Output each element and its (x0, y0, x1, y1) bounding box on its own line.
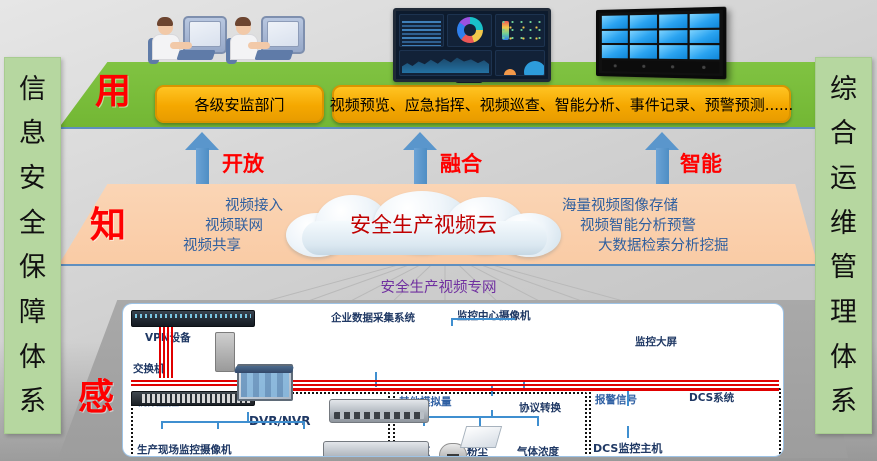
link-sensor-2 (479, 416, 481, 426)
cloud-capabilities-left: 视频接入 视频联网 视频共享 (138, 196, 283, 256)
keyboard-icon (254, 50, 293, 60)
donut-chart-icon (457, 17, 483, 43)
analytics-dashboard-screen (393, 8, 551, 82)
operator-2 (226, 8, 304, 70)
cloud-label-video-cloud: 安全生产视频云 (286, 209, 561, 239)
monitor-screen (267, 21, 299, 47)
left-banner-information-security: 信 息 安 全 保 障 体 系 (4, 57, 61, 434)
dashboard-trend-card (399, 50, 492, 76)
right-banner-char-2: 运 (830, 165, 857, 192)
network-label-private-network: 安全生产视频专网 (0, 276, 877, 297)
person-arm (170, 42, 192, 49)
cloud-left-item-0: 视频接入 (138, 196, 283, 216)
pill-application-functions[interactable]: 视频预览、应急指挥、视频巡查、智能分析、事件记录、预警预测...... (332, 85, 791, 123)
vpn-device-icon (131, 310, 255, 327)
left-banner-char-5: 障 (19, 299, 46, 326)
bubble-chart-icon (500, 55, 540, 71)
person-arm (248, 42, 270, 49)
dashboard-table-rows (402, 21, 441, 47)
video-wall-base (602, 60, 720, 73)
person-hair (235, 17, 251, 26)
arrow-label-fuse: 融合 (440, 148, 482, 178)
left-banner-char-3: 全 (19, 210, 46, 237)
operators-clipart (148, 8, 308, 70)
diagram-canvas: 用 知 感 信 息 安 全 保 障 体 系 综 合 运 维 管 理 体 系 (0, 0, 877, 461)
video-wall-display (596, 7, 726, 80)
layer-label-application: 用 (95, 62, 131, 114)
link-dcs-to-bus (627, 390, 629, 406)
right-banner-operations-management: 综 合 运 维 管 理 体 系 (815, 57, 872, 434)
area-chart-icon (402, 51, 489, 73)
link-sensor-bus (423, 416, 539, 418)
label-center-camera: 监控中心摄像机 (457, 308, 531, 323)
pc-keyboard-icon (234, 366, 294, 373)
link-converter-branch (491, 410, 493, 418)
label-data-collection: 企业数据采集系统 (331, 310, 415, 325)
link-cam3 (303, 421, 305, 429)
arrow-shaft (196, 148, 209, 184)
right-banner-char-7: 系 (830, 388, 857, 415)
arrow-shaft (414, 148, 427, 184)
cloud-left-item-2: 视频共享 (138, 236, 241, 256)
arrow-shaft (656, 148, 669, 184)
pill-supervision-departments[interactable]: 各级安监部门 (155, 85, 324, 123)
pc-tower-icon (215, 332, 235, 372)
cloud-left-item-1: 视频联网 (138, 216, 263, 236)
dashboard-grid (399, 14, 545, 76)
link-cam2 (217, 421, 219, 429)
dashboard-table-card (399, 14, 444, 47)
left-banner-char-2: 安 (19, 165, 46, 192)
layer-label-sense: 感 (78, 368, 114, 420)
dashboard-donut-card (447, 14, 492, 47)
link-sensor-3 (537, 416, 539, 426)
link-cam1 (161, 421, 163, 429)
video-wall-grid (602, 13, 720, 59)
right-banner-char-4: 管 (830, 254, 857, 281)
right-banner-char-5: 理 (830, 299, 857, 326)
scatter-plot-icon (499, 18, 541, 43)
link-camera-run (451, 318, 515, 320)
dashboard-scatter-card (495, 14, 545, 47)
arrow-up-smart (645, 132, 679, 184)
cloud-right-item-2: 大数据检索分析挖掘 (598, 236, 792, 256)
right-banner-char-0: 综 (830, 76, 857, 103)
arrow-label-smart: 智能 (680, 148, 722, 178)
group-dcs (589, 388, 781, 457)
operator-1 (148, 8, 226, 70)
link-camera-bus (161, 421, 305, 423)
right-banner-char-6: 体 (830, 344, 857, 371)
left-banner-char-4: 保 (19, 254, 46, 281)
dust-sensor-icon (460, 426, 502, 448)
layer-label-knowledge: 知 (90, 196, 126, 248)
right-banner-char-1: 合 (830, 120, 857, 147)
left-banner-char-7: 系 (19, 388, 46, 415)
cloud-capabilities-right: 海量视频图像存储 视频智能分析预警 大数据检索分析挖掘 (562, 196, 792, 256)
arrow-up-fuse (403, 132, 437, 184)
data-collection-server-icon (329, 399, 429, 423)
label-big-screen: 监控大屏 (635, 334, 677, 349)
right-banner-char-3: 维 (830, 210, 857, 237)
link-dcs-branch (627, 426, 629, 438)
arrow-up-open (185, 132, 219, 184)
person-hair (157, 17, 173, 26)
left-banner-char-6: 体 (19, 344, 46, 371)
keyboard-icon (176, 50, 215, 60)
cloud-right-item-1: 视频智能分析预警 (580, 216, 792, 236)
monitor-screen (189, 21, 221, 47)
infrastructure-panel: VPN设备 交换机 监控PC 企业数据采集系统 监控中心摄像机 (122, 303, 784, 457)
arrow-label-open: 开放 (222, 148, 264, 178)
cloud-shape: 安全生产视频云 (286, 193, 561, 257)
data-collection-server-icon-2 (323, 441, 429, 457)
dashboard-bubble-card (495, 50, 545, 76)
left-banner-char-1: 息 (19, 120, 46, 147)
cloud-right-item-0: 海量视频图像存储 (562, 196, 792, 216)
left-banner-char-0: 信 (19, 76, 46, 103)
